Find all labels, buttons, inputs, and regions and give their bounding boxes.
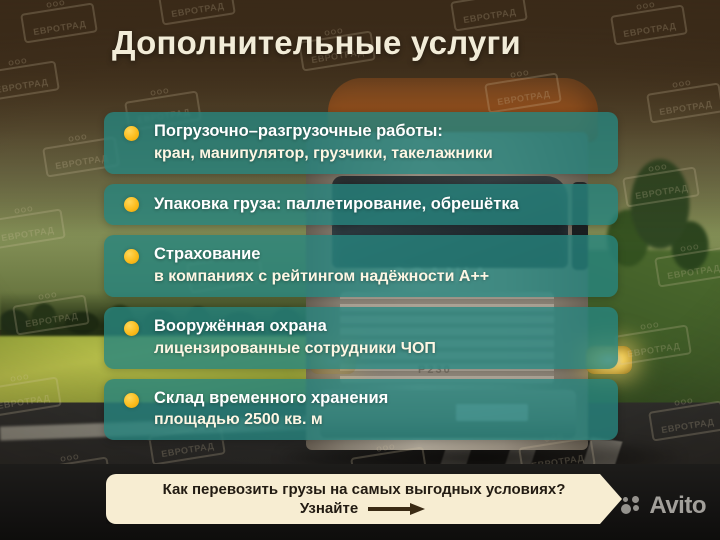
cta-action-row: Узнайте	[300, 500, 428, 517]
bullet-dot-icon	[124, 393, 139, 408]
list-item-text: Погрузочно–разгрузочные работы: кран, ма…	[154, 121, 604, 164]
list-item-title: Погрузочно–разгрузочные работы:	[154, 122, 443, 140]
list-item-subtitle: лицензированные сотрудники ЧОП	[154, 339, 604, 359]
list-item-subtitle: кран, манипулятор, грузчики, такелажники	[154, 144, 604, 164]
list-item-title: Склад временного хранения	[154, 389, 388, 407]
banner-canvas: SCANIA P230 ООО ЕВРОТРАД ООО ЕВРОТРАД ОО…	[0, 0, 720, 540]
list-item-text: Вооружённая охрана лицензированные сотру…	[154, 316, 604, 359]
avito-wordmark: Avito	[649, 494, 706, 518]
bullet-dot-icon	[124, 249, 139, 264]
list-item: Страхование в компаниях с рейтингом надё…	[104, 235, 618, 297]
list-item: Упаковка груза: паллетирование, обрешётк…	[104, 184, 618, 226]
list-item: Склад временного хранения площадью 2500 …	[104, 379, 618, 441]
list-item-subtitle: в компаниях с рейтингом надёжности А++	[154, 267, 604, 287]
list-item-title: Страхование	[154, 245, 261, 263]
list-item: Вооружённая охрана лицензированные сотру…	[104, 307, 618, 369]
list-item: Погрузочно–разгрузочные работы: кран, ма…	[104, 112, 618, 174]
list-item-title: Вооружённая охрана	[154, 317, 327, 335]
list-item-text: Упаковка груза: паллетирование, обрешётк…	[154, 194, 604, 215]
list-item-text: Склад временного хранения площадью 2500 …	[154, 388, 604, 431]
page-title: Дополнительные услуги	[112, 24, 521, 62]
list-item-text: Страхование в компаниях с рейтингом надё…	[154, 244, 604, 287]
cta-question: Как перевозить грузы на самых выгодных у…	[163, 481, 566, 498]
avito-watermark: Avito	[621, 494, 706, 518]
avito-dots-icon	[621, 496, 643, 516]
arrow-right-icon	[368, 503, 428, 515]
bullet-dot-icon	[124, 126, 139, 141]
list-item-subtitle: площадью 2500 кв. м	[154, 410, 604, 430]
cta-action-label: Узнайте	[300, 500, 358, 517]
bullet-dot-icon	[124, 321, 139, 336]
cta-ribbon[interactable]: Как перевозить грузы на самых выгодных у…	[106, 474, 622, 524]
list-item-title: Упаковка груза: паллетирование, обрешётк…	[154, 195, 519, 213]
services-list: Погрузочно–разгрузочные работы: кран, ма…	[104, 112, 618, 450]
bullet-dot-icon	[124, 197, 139, 212]
